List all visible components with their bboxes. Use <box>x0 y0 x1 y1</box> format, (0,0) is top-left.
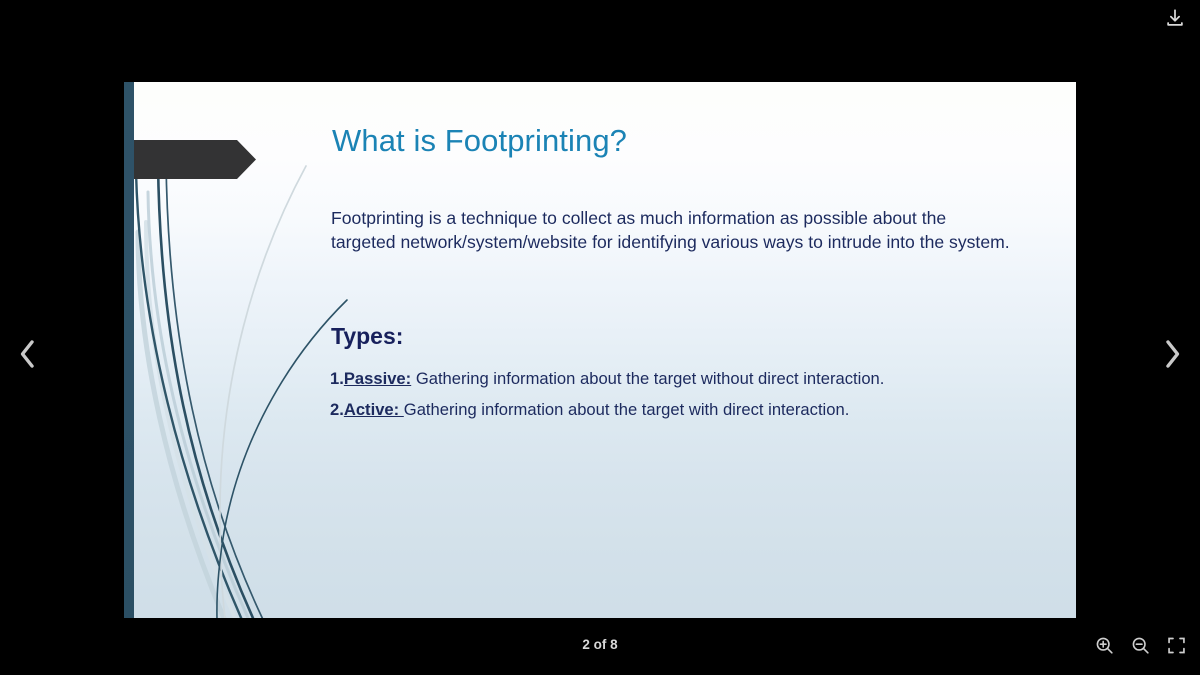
list-item-label: Passive: <box>344 369 411 388</box>
list-item: 2.Active: Gathering information about th… <box>330 400 849 420</box>
list-item: 1.Passive: Gathering information about t… <box>330 369 884 389</box>
chevron-left-icon <box>15 337 41 371</box>
zoom-controls <box>1092 633 1188 657</box>
zoom-in-icon <box>1094 635 1115 656</box>
fit-screen-icon <box>1166 635 1187 656</box>
download-icon <box>1164 7 1186 29</box>
list-item-number: 2. <box>330 400 344 419</box>
zoom-out-button[interactable] <box>1128 633 1152 657</box>
slide-title: What is Footprinting? <box>332 123 1032 159</box>
chevron-right-icon <box>1159 337 1185 371</box>
list-item-label: Active: <box>344 400 404 419</box>
viewer-bottom-bar: 2 of 8 <box>0 625 1200 675</box>
download-button[interactable] <box>1162 5 1188 31</box>
title-arrow-banner <box>134 140 256 179</box>
zoom-in-button[interactable] <box>1092 633 1116 657</box>
list-item-number: 1. <box>330 369 344 388</box>
page-indicator: 2 of 8 <box>0 637 1200 652</box>
slide-accent-bar <box>124 82 134 618</box>
list-item-description: Gathering information about the target w… <box>411 369 884 388</box>
fit-screen-button[interactable] <box>1164 633 1188 657</box>
document-viewer: What is Footprinting? Footprinting is a … <box>0 0 1200 675</box>
next-page-button[interactable] <box>1150 330 1194 378</box>
viewer-top-bar <box>0 0 1200 36</box>
previous-page-button[interactable] <box>6 330 50 378</box>
slide-body-text: Footprinting is a technique to collect a… <box>331 206 1013 254</box>
types-heading: Types: <box>331 323 403 350</box>
list-item-description: Gathering information about the target w… <box>404 400 850 419</box>
zoom-out-icon <box>1130 635 1151 656</box>
slide-canvas[interactable]: What is Footprinting? Footprinting is a … <box>124 82 1076 618</box>
